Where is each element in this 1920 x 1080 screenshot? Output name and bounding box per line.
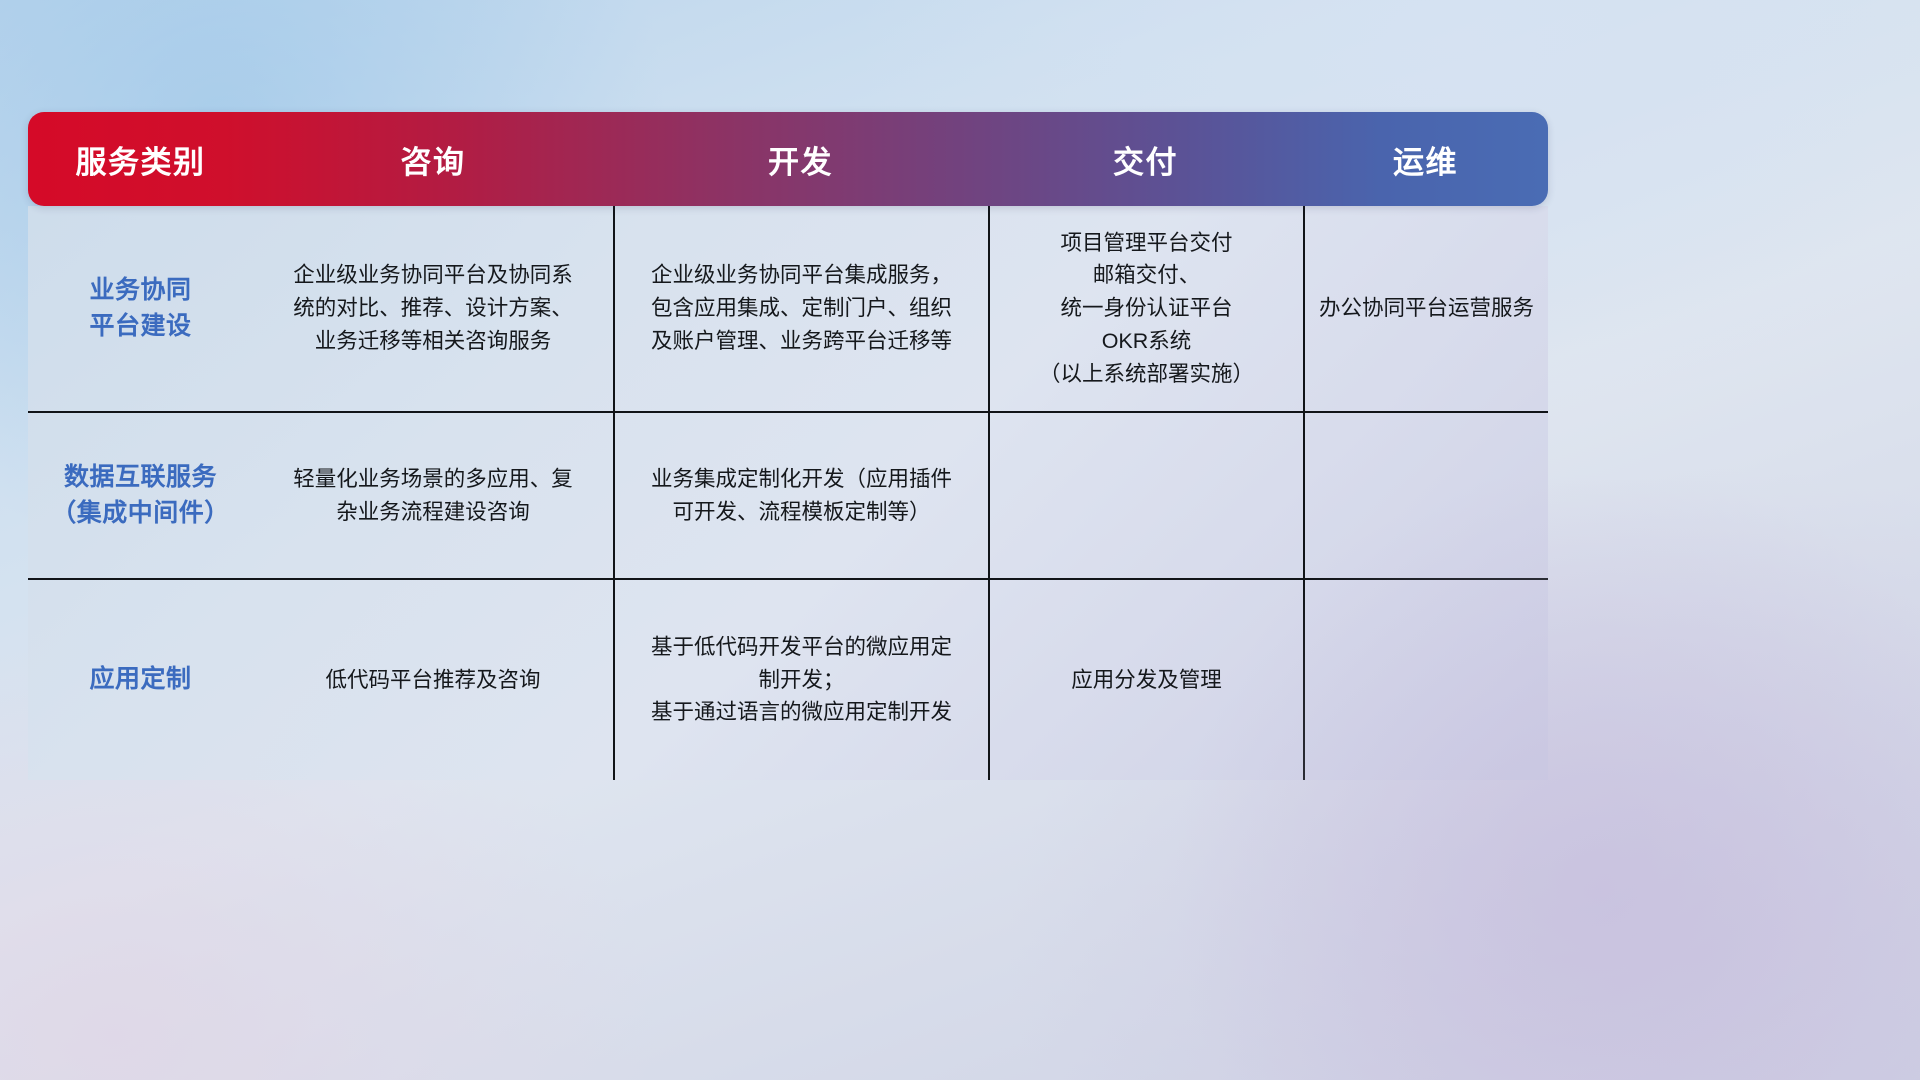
table-header-row: 服务类别 咨询 开发 交付 运维 xyxy=(28,112,1548,206)
service-matrix-table: 服务类别 咨询 开发 交付 运维 业务协同 平台建设 企业级业务协同平台及协同系… xyxy=(28,112,1548,780)
cell-development: 企业级业务协同平台集成服务， 包含应用集成、定制门户、组织 及账户管理、业务跨平… xyxy=(613,206,988,411)
column-header-delivery: 交付 xyxy=(988,112,1303,206)
table-row: 业务协同 平台建设 企业级业务协同平台及协同系 统的对比、推荐、设计方案、 业务… xyxy=(28,206,1548,411)
column-header-development: 开发 xyxy=(613,112,988,206)
table-body: 业务协同 平台建设 企业级业务协同平台及协同系 统的对比、推荐、设计方案、 业务… xyxy=(28,206,1548,780)
cell-development: 业务集成定制化开发（应用插件 可开发、流程模板定制等） xyxy=(613,413,988,578)
table-row: 应用定制 低代码平台推荐及咨询 基于低代码开发平台的微应用定 制开发； 基于通过… xyxy=(28,578,1548,780)
cell-consulting: 轻量化业务场景的多应用、复 杂业务流程建设咨询 xyxy=(253,413,613,578)
cell-development: 基于低代码开发平台的微应用定 制开发； 基于通过语言的微应用定制开发 xyxy=(613,580,988,780)
cell-operations xyxy=(1303,413,1548,578)
cell-category: 应用定制 xyxy=(28,580,253,780)
cell-delivery xyxy=(988,413,1303,578)
cell-category: 业务协同 平台建设 xyxy=(28,206,253,411)
cell-delivery: 应用分发及管理 xyxy=(988,580,1303,780)
cell-operations: 办公协同平台运营服务 xyxy=(1303,206,1548,411)
column-header-category: 服务类别 xyxy=(28,112,253,206)
cell-category: 数据互联服务 （集成中间件） xyxy=(28,413,253,578)
cell-consulting: 低代码平台推荐及咨询 xyxy=(253,580,613,780)
column-header-operations: 运维 xyxy=(1303,112,1548,206)
table-row: 数据互联服务 （集成中间件） 轻量化业务场景的多应用、复 杂业务流程建设咨询 业… xyxy=(28,411,1548,578)
column-header-consulting: 咨询 xyxy=(253,112,613,206)
cell-operations xyxy=(1303,580,1548,780)
cell-consulting: 企业级业务协同平台及协同系 统的对比、推荐、设计方案、 业务迁移等相关咨询服务 xyxy=(253,206,613,411)
cell-delivery: 项目管理平台交付 邮箱交付、 统一身份认证平台 OKR系统 （以上系统部署实施） xyxy=(988,206,1303,411)
slide-canvas: 服务类别 咨询 开发 交付 运维 业务协同 平台建设 企业级业务协同平台及协同系… xyxy=(0,0,1920,1080)
